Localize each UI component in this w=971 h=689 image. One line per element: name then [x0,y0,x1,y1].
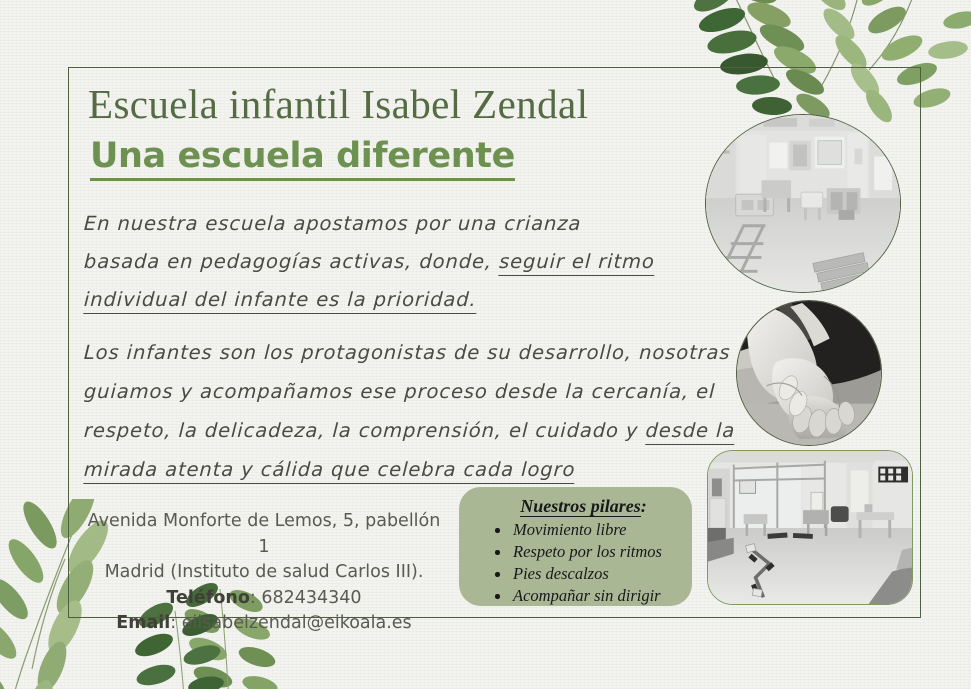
paragraph-1-line-2-plain: basada en pedagogías activas, donde, [83,250,499,273]
paragraph-1-line-2-underlined: seguir el ritmo [498,250,655,276]
page-subtitle: Una escuela diferente [90,136,515,181]
phone-separator: : [250,588,261,608]
paragraph-2-line-4: mirada atenta y cálida que celebra cada … [83,450,735,489]
poster-canvas: Escuela infantil Isabel Zendal Una escue… [0,0,971,689]
phone-label: Teléfono [166,588,249,608]
contact-block: Avenida Monforte de Lemos, 5, pabellón 1… [84,509,444,637]
paragraph-1-line-2: basada en pedagogías activas, donde, seg… [83,243,735,281]
body-copy: En nuestra escuela apostamos por una cri… [84,205,734,503]
paragraph-2-line-1: Los infantes son los protagonistas de su… [83,333,735,372]
paragraph-2-line-3: respeto, la delicadeza, la comprensión, … [83,411,735,450]
phone-row: Teléfono: 682434340 [84,586,444,612]
pillars-box: Nuestros pilares: Movimiento libre Respe… [459,487,692,606]
pillars-title-text: Nuestros pilares [520,496,641,517]
email-label: Email [116,613,170,633]
email-row: Email: eiisabelzendal@eikoala.es [84,611,444,637]
pillars-list: Movimiento libre Respeto por los ritmos … [475,519,682,607]
paragraph-2-line-2: guiamos y acompañamos ese proceso desde … [83,372,735,411]
address-line-2: Madrid (Instituto de salud Carlos III). [84,560,444,586]
pillars-title: Nuestros pilares: [475,496,682,517]
list-item: Respeto por los ritmos [495,541,682,563]
pillars-title-colon: : [641,496,647,516]
photo-classroom-wide-top [705,114,901,293]
email-value[interactable]: eiisabelzendal@eikoala.es [182,613,412,633]
paragraph-2-line-4-underlined: mirada atenta y cálida que celebra cada … [83,458,576,484]
paragraph-1-line-3: individual del infante es la prioridad. [83,281,735,319]
paragraph-1-line-3-underlined: individual del infante es la prioridad. [83,288,477,314]
paragraph-2-line-3-underlined: desde la [645,419,736,445]
paragraph-1-line-1: En nuestra escuela apostamos por una cri… [83,205,735,243]
list-item: Pies descalzos [495,563,682,585]
photo-classroom-wide-bottom [707,450,913,605]
phone-value[interactable]: 682434340 [261,588,361,608]
paragraph-2: Los infantes son los protagonistas de su… [84,333,734,489]
paragraph-2-line-3-plain: respeto, la delicadeza, la comprensión, … [83,419,646,442]
list-item: Movimiento libre [495,519,682,541]
paragraph-1: En nuestra escuela apostamos por una cri… [84,205,734,319]
email-separator: : [170,613,181,633]
page-title: Escuela infantil Isabel Zendal [88,80,588,128]
address-line-1: Avenida Monforte de Lemos, 5, pabellón 1 [84,509,444,560]
photo-hands-holding [736,300,882,446]
list-item: Acompañar sin dirigir [495,585,682,607]
